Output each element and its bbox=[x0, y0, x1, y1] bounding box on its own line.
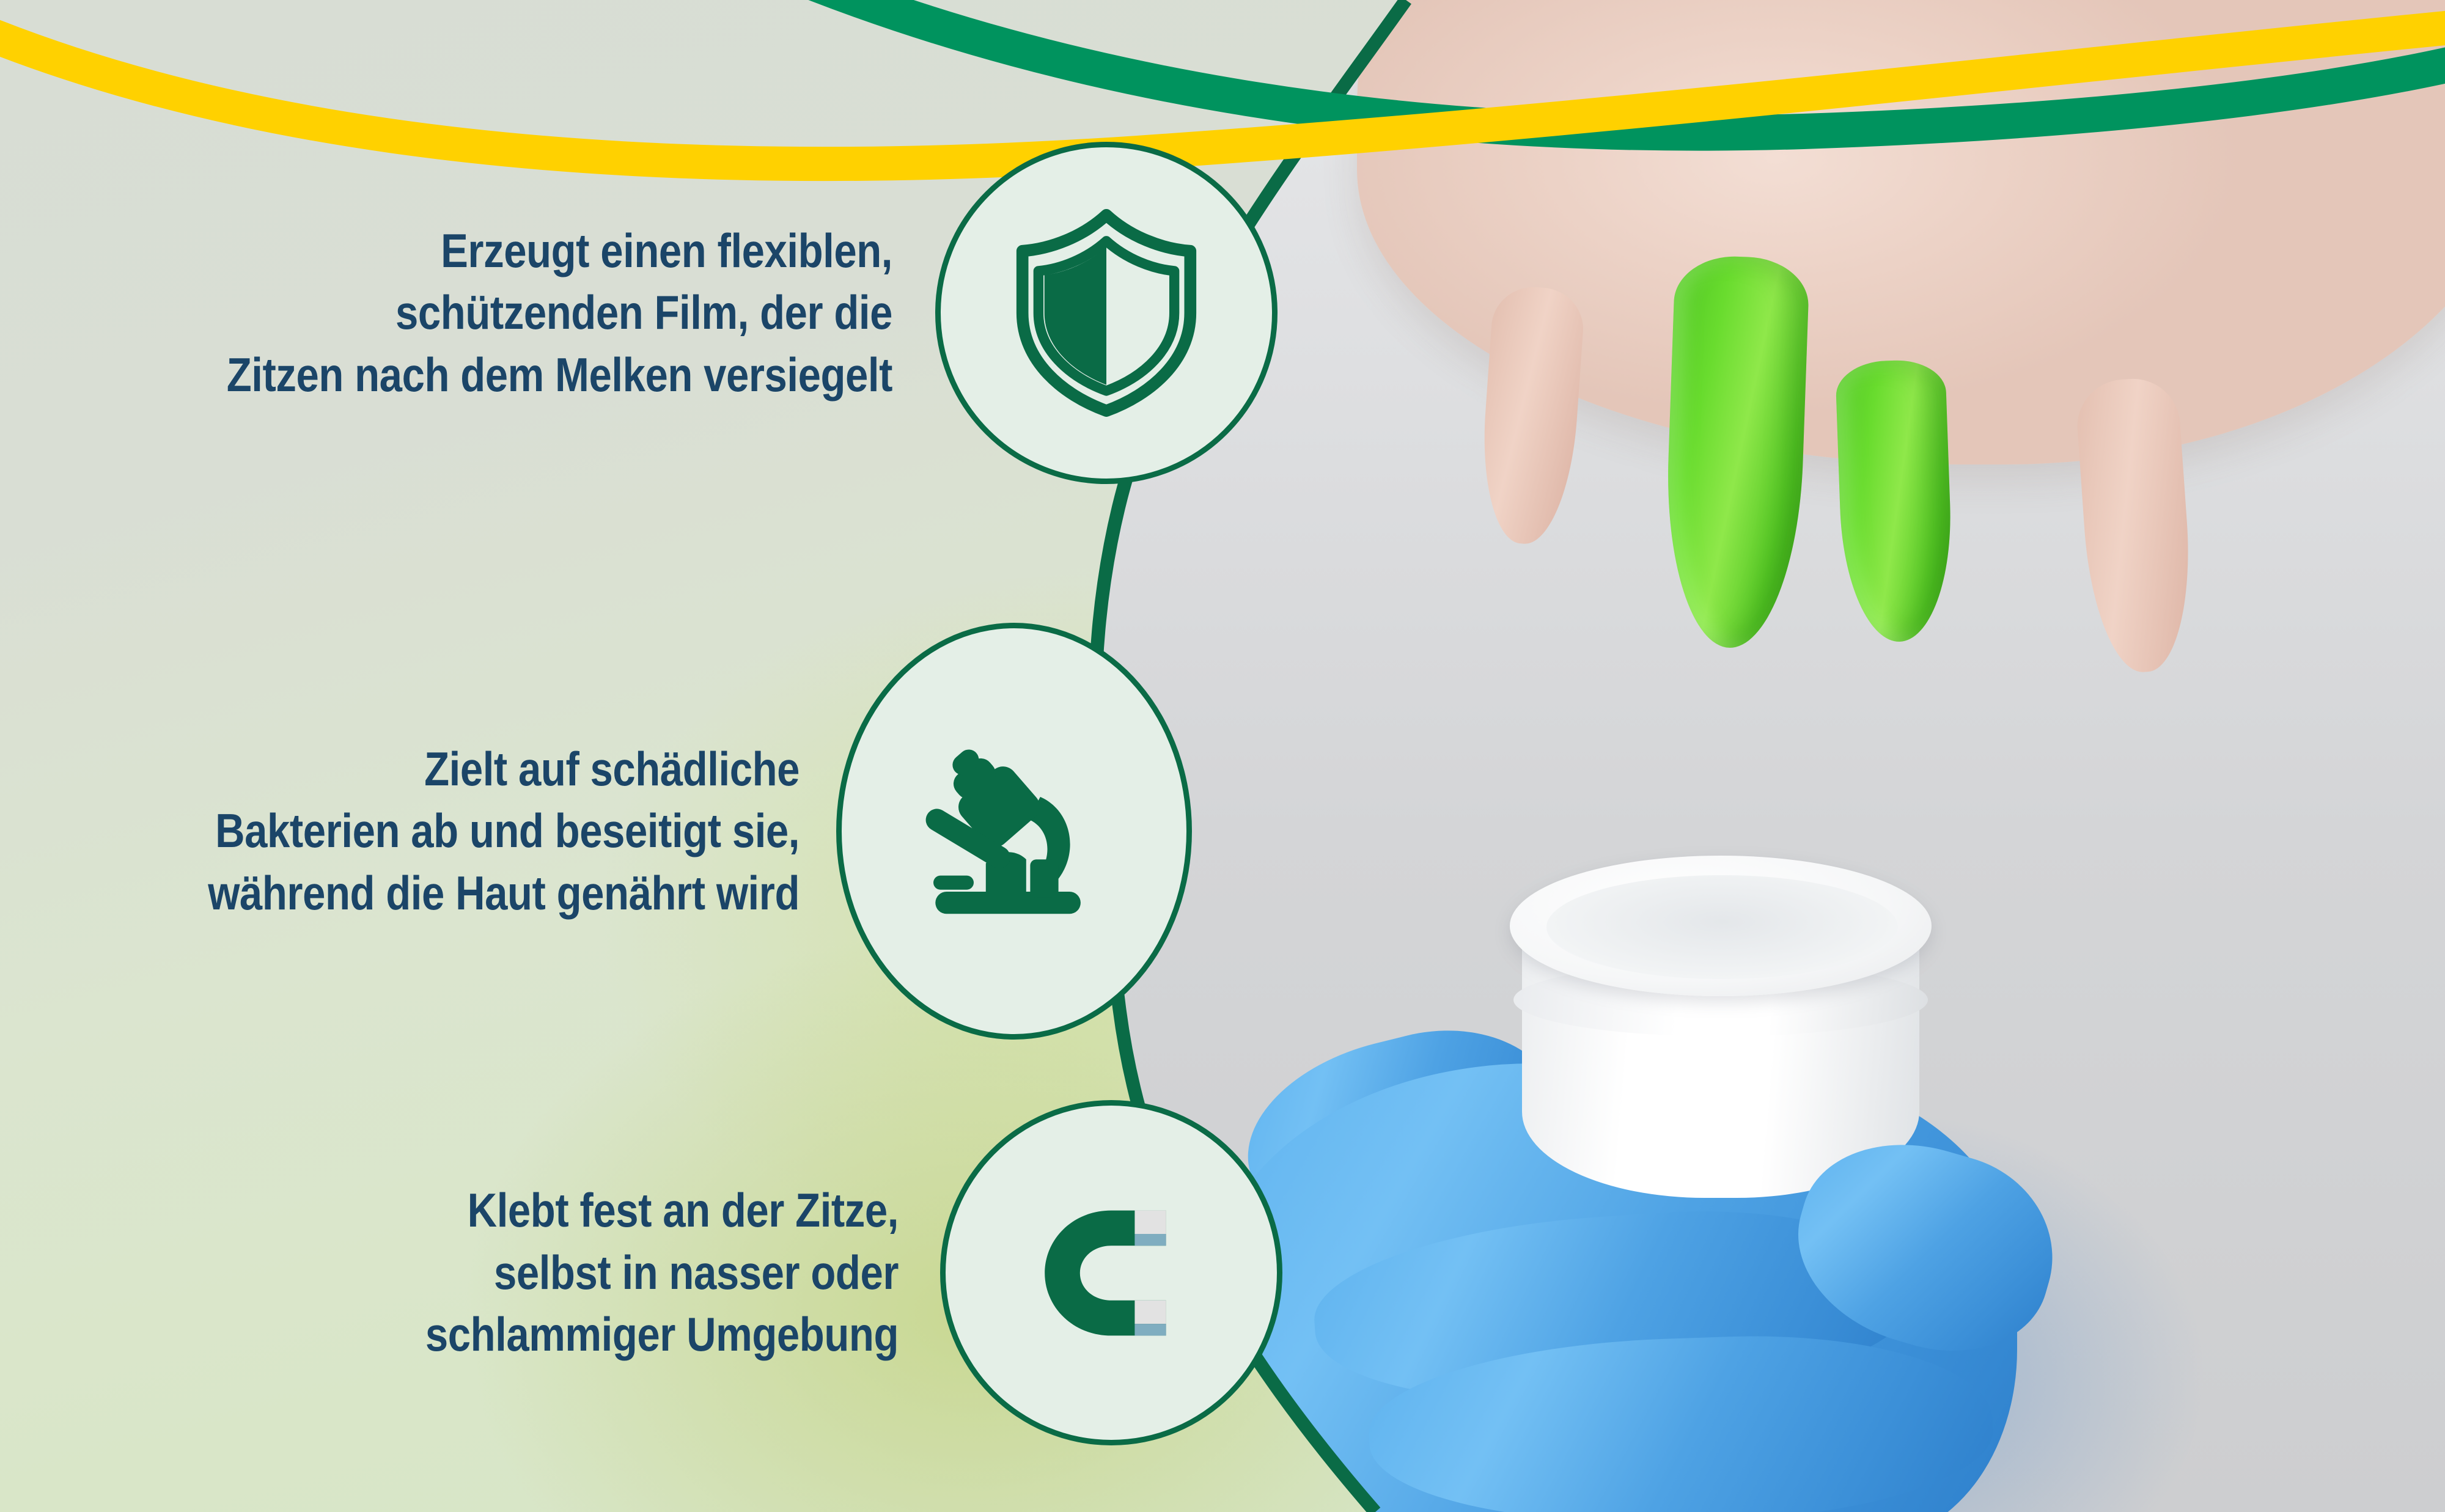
feature-text-microscope: Zielt auf schädliche Bakterien ab und be… bbox=[70, 738, 800, 924]
dipped-teat-green bbox=[1835, 359, 1955, 644]
feature-list: Erzeugt einen flexiblen, schützenden Fil… bbox=[0, 0, 1314, 1512]
magnet-badge bbox=[940, 1100, 1282, 1445]
feature-item-microscope: Zielt auf schädliche Bakterien ab und be… bbox=[0, 623, 1192, 1039]
dip-cup-opening bbox=[1546, 875, 1898, 979]
dipped-teat-green bbox=[1662, 254, 1810, 650]
microscope-icon bbox=[913, 730, 1115, 932]
infographic-stage: Erzeugt einen flexiblen, schützenden Fil… bbox=[0, 0, 2445, 1512]
feature-text-magnet: Klebt fest an der Zitze, selbst in nasse… bbox=[173, 1180, 899, 1365]
feature-item-shield: Erzeugt einen flexiblen, schützenden Fil… bbox=[49, 142, 1278, 484]
feature-item-magnet: Klebt fest an der Zitze, selbst in nasse… bbox=[55, 1100, 1290, 1445]
shield-icon bbox=[1006, 209, 1207, 417]
teat-plain bbox=[1477, 284, 1586, 546]
shield-badge bbox=[935, 142, 1278, 484]
microscope-badge bbox=[836, 623, 1192, 1040]
teat-plain bbox=[2074, 376, 2197, 676]
magnet-icon bbox=[1013, 1175, 1209, 1371]
feature-text-shield: Erzeugt einen flexiblen, schützenden Fil… bbox=[167, 220, 892, 406]
